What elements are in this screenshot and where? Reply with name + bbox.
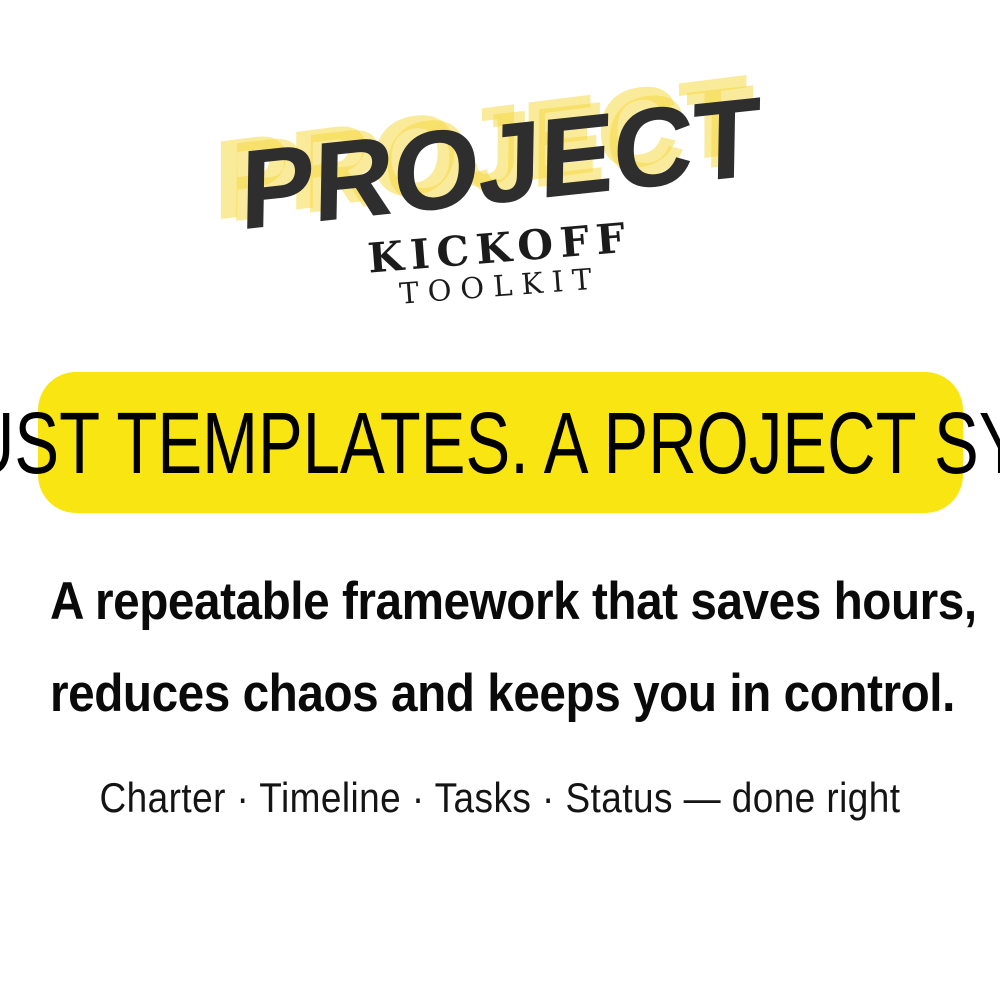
body-copy: A repeatable framework that saves hours,…: [0, 556, 1000, 740]
logo-lockup: PROJECT PROJECT PROJECT KICKOFF TOOLKIT: [0, 0, 1000, 330]
headline-banner: NOT JUST TEMPLATES. A PROJECT SYSTEM.: [38, 372, 963, 513]
body-line-2: reduces chaos and keeps you in control.: [50, 648, 950, 740]
body-line-1: A repeatable framework that saves hours,: [50, 556, 950, 648]
poster-canvas: PROJECT PROJECT PROJECT KICKOFF TOOLKIT …: [0, 0, 1000, 1000]
headline-text: NOT JUST TEMPLATES. A PROJECT SYSTEM.: [0, 399, 1000, 486]
feature-caption: Charter · Timeline · Tasks · Status — do…: [60, 772, 940, 825]
